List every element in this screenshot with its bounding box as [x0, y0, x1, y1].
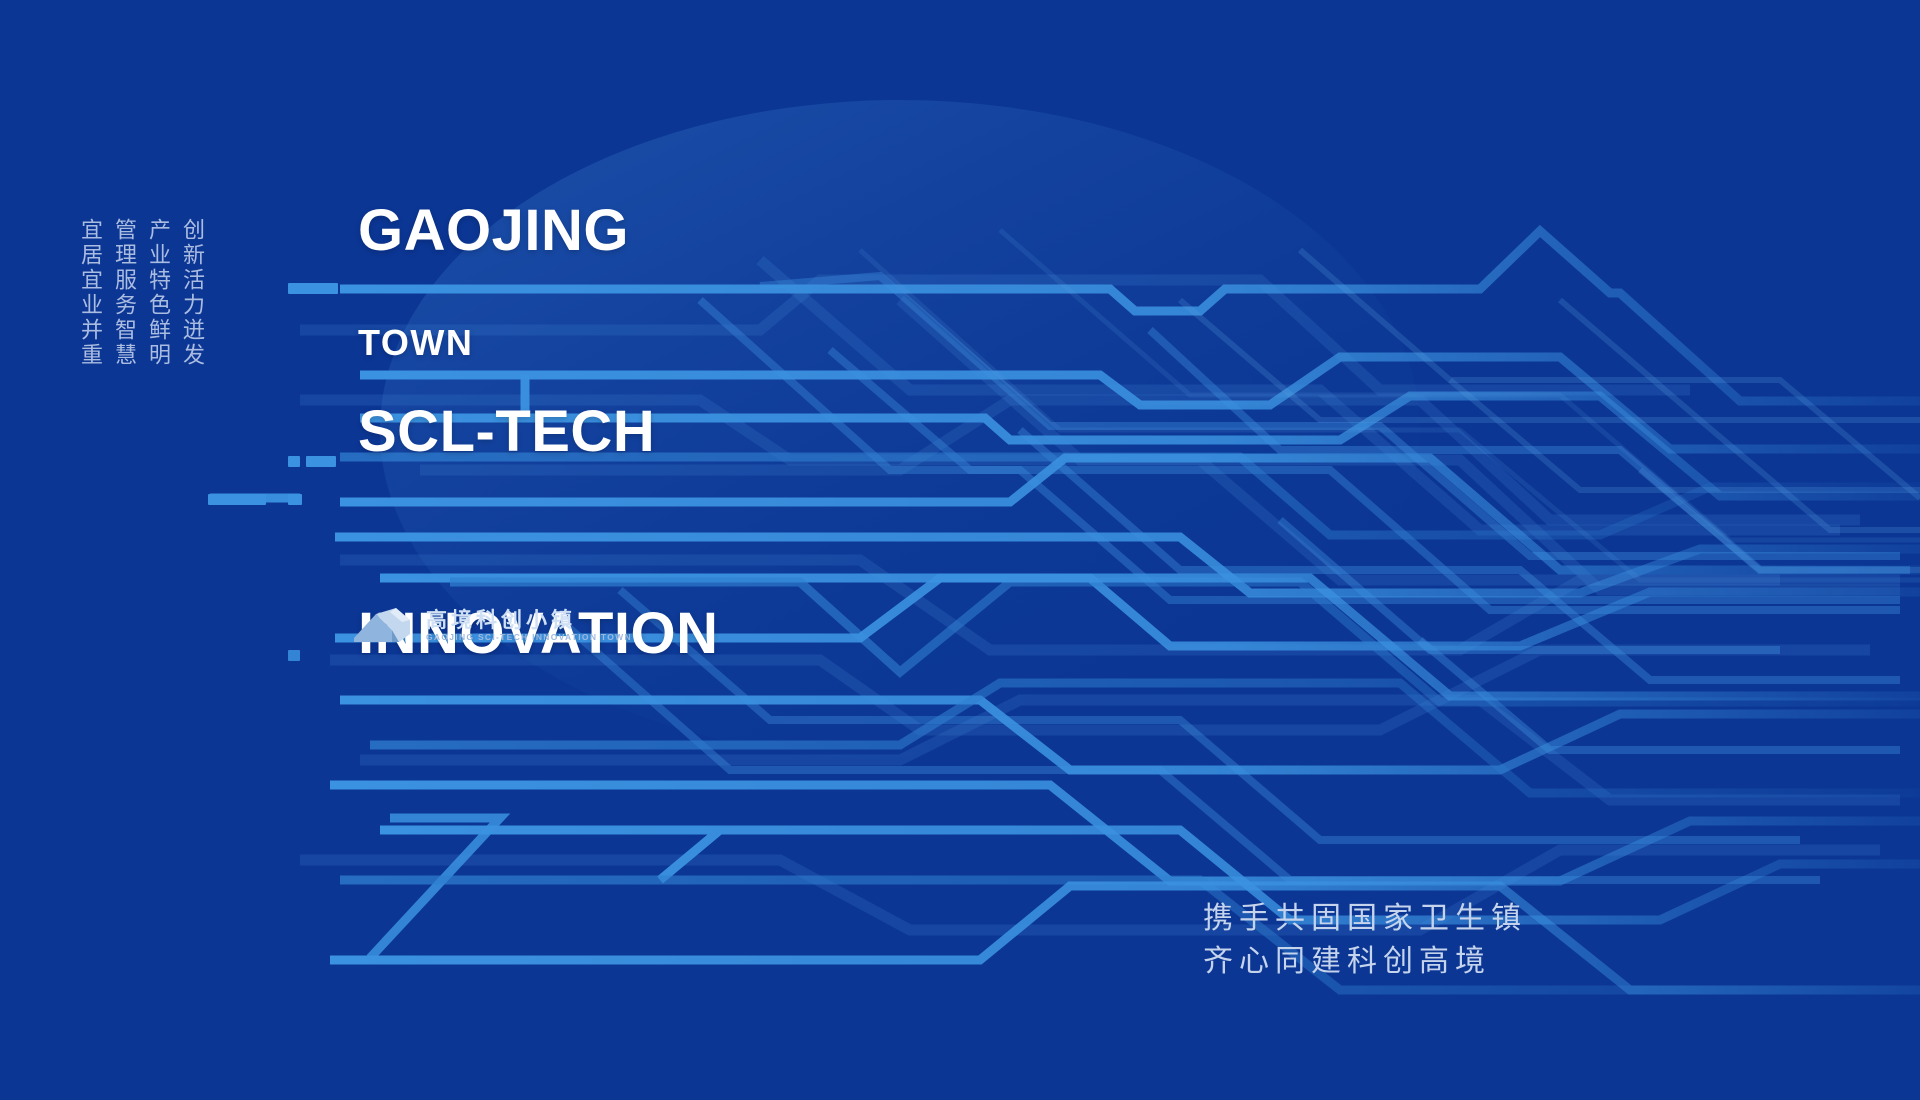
bottom-slogan: 携手共固国家卫生镇 齐心同建科创高境 — [1203, 898, 1527, 983]
logo-english-name: GAOJING SCI-TECH INNOVATION TOWN — [426, 633, 632, 642]
vertical-slogan-col-3: 管理服务智慧 — [112, 218, 134, 368]
poster-canvas: GAOJING SCL-TECH INNOVATION TOWN 创新活力迸发 … — [0, 0, 1920, 1100]
headline-line-2: SCL-TECH — [358, 398, 719, 465]
vertical-slogan-col-2: 产业特色鲜明 — [146, 218, 168, 368]
vertical-slogan-col-4: 宜居宜业并重 — [78, 218, 100, 368]
bottom-slogan-line-2: 齐心同建科创高境 — [1203, 941, 1527, 984]
vertical-slogan-col-1: 创新活力迸发 — [180, 218, 202, 368]
circuit-trace-background — [0, 0, 1920, 1100]
vertical-slogan-group: 创新活力迸发 产业特色鲜明 管理服务智慧 宜居宜业并重 — [78, 218, 202, 368]
house-building-icon — [352, 604, 414, 648]
logo-lockup: 高境科创小镇 GAOJING SCI-TECH INNOVATION TOWN — [352, 604, 632, 648]
logo-text-block: 高境科创小镇 GAOJING SCI-TECH INNOVATION TOWN — [426, 610, 632, 642]
headline-line-1: GAOJING — [358, 197, 719, 264]
logo-chinese-name: 高境科创小镇 — [426, 610, 632, 631]
headline-line-4: TOWN — [358, 322, 473, 364]
bottom-slogan-line-1: 携手共固国家卫生镇 — [1203, 898, 1527, 941]
page-title: GAOJING SCL-TECH INNOVATION — [358, 62, 719, 802]
